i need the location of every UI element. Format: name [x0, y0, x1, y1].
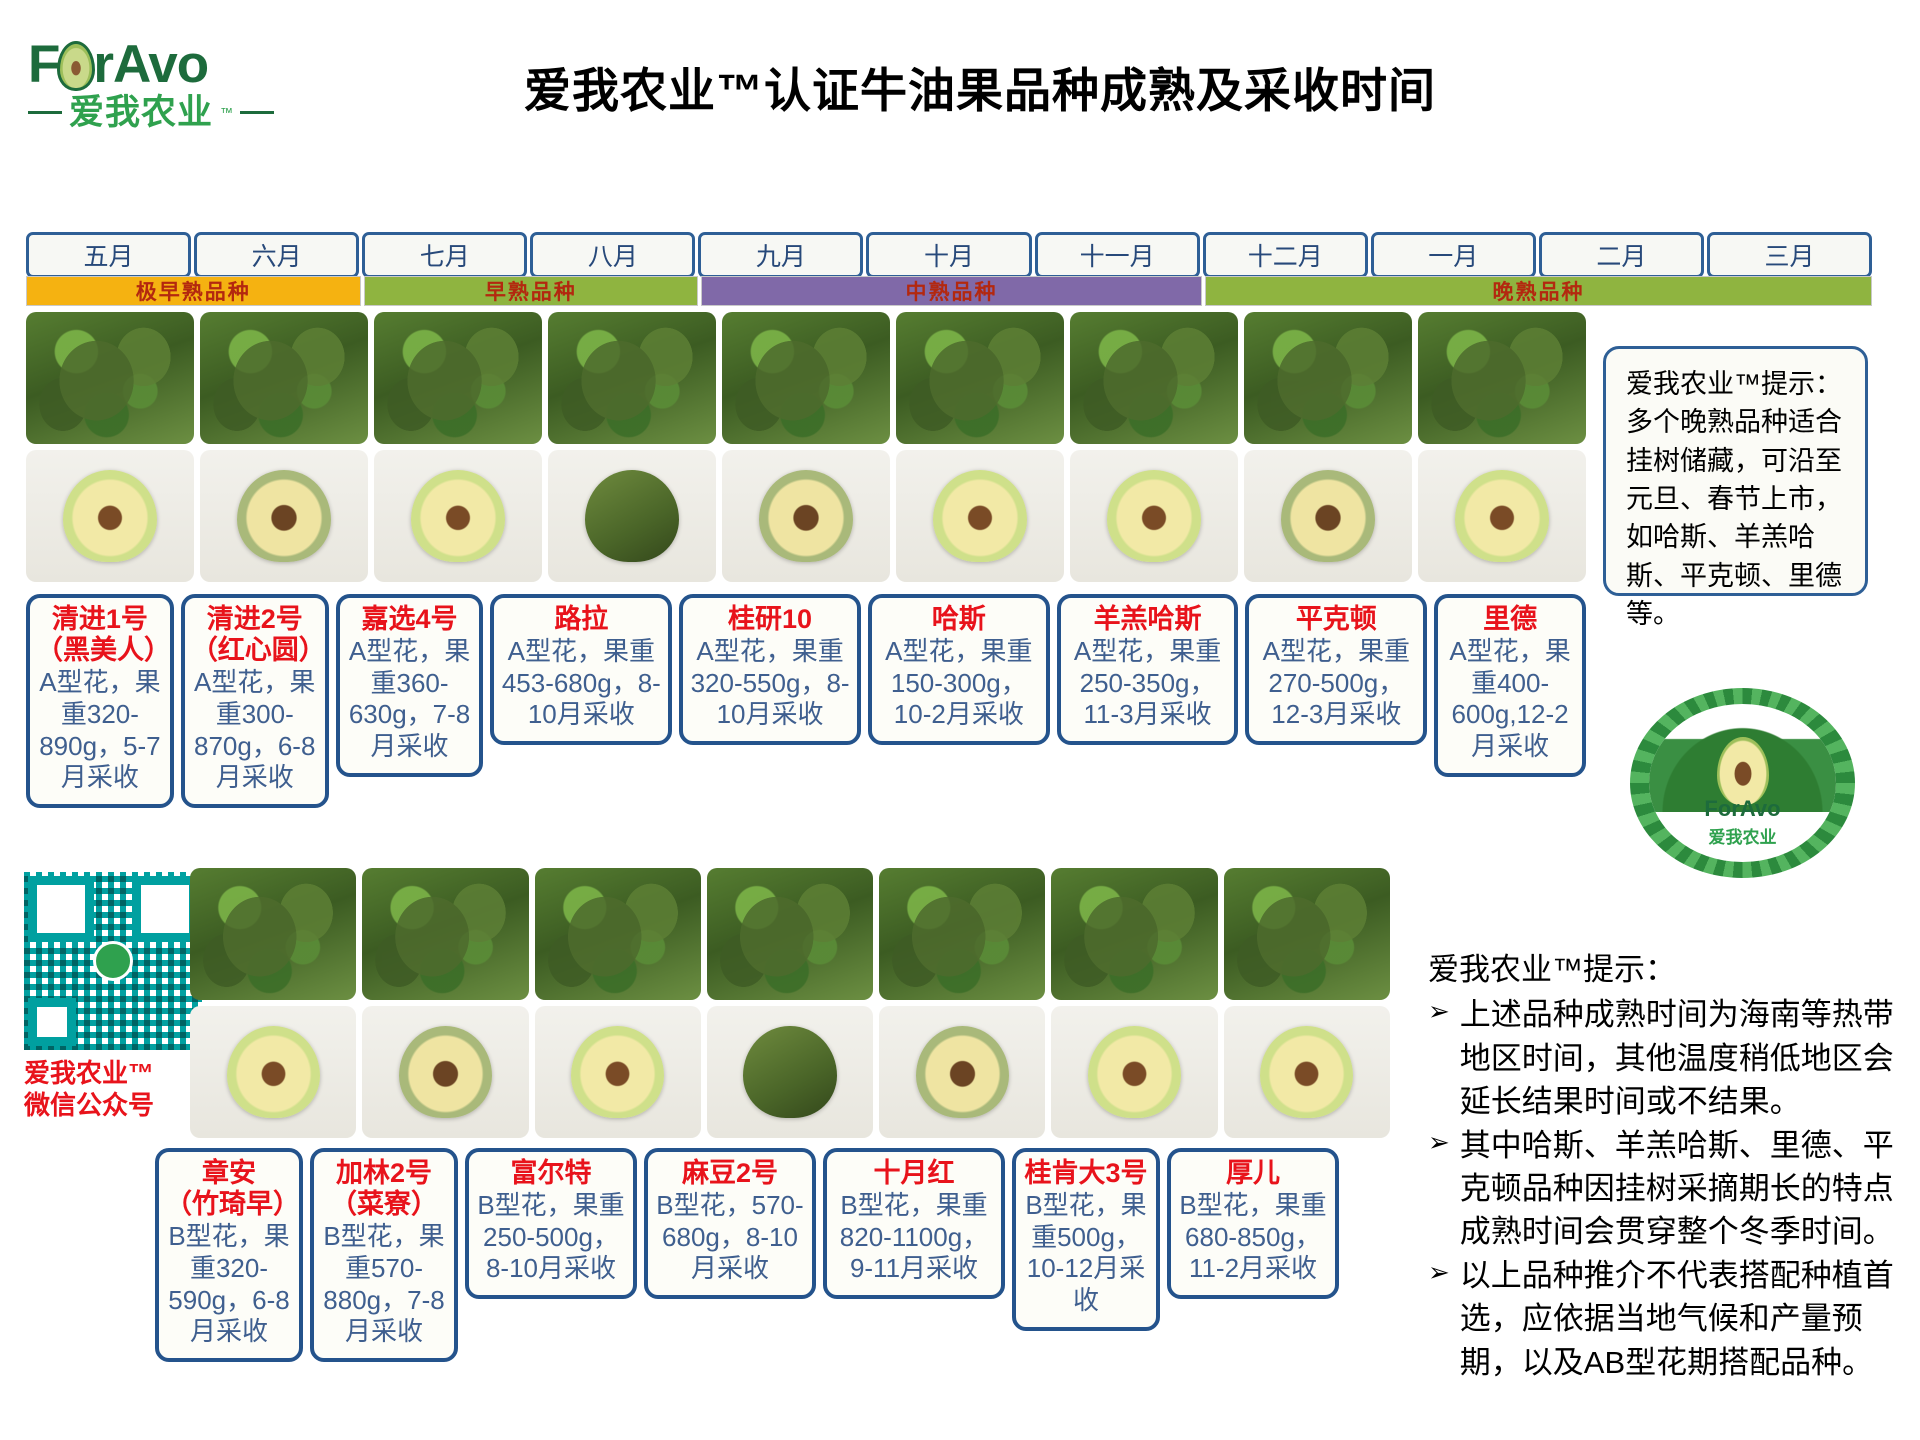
qr-caption: 爱我农业™ 微信公众号: [24, 1058, 204, 1121]
avocado-cut-graphic: [571, 1026, 664, 1118]
tree-photo-12: [535, 868, 701, 1000]
variety-description: A型花，果重150-300g，10-2月采收: [878, 636, 1040, 731]
variety-name: 加林2号: [320, 1158, 448, 1189]
variety-card[interactable]: 十月红B型花，果重820-1100g，9-11月采收: [823, 1148, 1005, 1299]
variety-description: A型花，果重453-680g，8-10月采收: [500, 636, 662, 731]
variety-card[interactable]: 加林2号（菜寮）B型花，果重570-880g，7-8月采收: [310, 1148, 458, 1362]
fruit-photo-16: [1224, 1006, 1390, 1138]
tree-photo-row-1: [26, 312, 1586, 444]
tips-bottom: 爱我农业™提示： ➢上述品种成熟时间为海南等热带地区时间，其他温度稍低地区会延长…: [1428, 948, 1906, 1384]
variety-name: 路拉: [500, 604, 662, 635]
variety-alias: （红心圆）: [191, 635, 319, 666]
poster-root: FrAvo 爱我农业™ 爱我农业™认证牛油果品种成熟及采收时间 五月六月七月八月…: [0, 0, 1920, 1440]
fruit-photo-5: [722, 450, 890, 582]
avocado-cut-graphic: [227, 1026, 320, 1118]
fruit-photo-row-2: [190, 1006, 1390, 1138]
brand-logo: FrAvo 爱我农业™: [28, 38, 298, 148]
variety-card[interactable]: 平克顿A型花，果重270-500g，12-3月采收: [1245, 594, 1427, 745]
season-segment: 极早熟品种: [26, 276, 361, 306]
variety-description: B型花，果重250-500g，8-10月采收: [475, 1190, 627, 1285]
variety-card[interactable]: 清进2号（红心圆）A型花，果重300-870g，6-8月采收: [181, 594, 329, 808]
avocado-cut-graphic: [916, 1026, 1009, 1118]
fruit-photo-7: [1070, 450, 1238, 582]
logo-wordmark: FrAvo: [28, 38, 298, 91]
fruit-photo-11: [362, 1006, 528, 1138]
tree-photo-8: [1244, 312, 1412, 444]
variety-name: 羊羔哈斯: [1067, 604, 1229, 635]
tree-photo-row-2: [190, 868, 1390, 1000]
month-cell: 六月: [194, 232, 359, 278]
avocado-cut-graphic: [585, 470, 679, 562]
variety-description: A型花，果重320-550g，8-10月采收: [689, 636, 851, 731]
tree-photo-3: [374, 312, 542, 444]
seal-wordmark: ForAvo: [1704, 798, 1780, 820]
variety-description: A型花，果重360-630g，7-8月采收: [346, 636, 474, 763]
avocado-cut-graphic: [1260, 1026, 1353, 1118]
variety-card[interactable]: 富尔特B型花，果重250-500g，8-10月采收: [465, 1148, 637, 1299]
tree-photo-1: [26, 312, 194, 444]
variety-name: 富尔特: [475, 1158, 627, 1189]
tree-photo-10: [190, 868, 356, 1000]
avocado-cut-graphic: [399, 1026, 492, 1118]
variety-description: B型花，570-680g，8-10月采收: [654, 1190, 806, 1285]
avocado-cut-graphic: [759, 470, 853, 562]
variety-name: 里德: [1444, 604, 1576, 635]
fruit-photo-2: [200, 450, 368, 582]
month-cell: 一月: [1371, 232, 1536, 278]
variety-card[interactable]: 清进1号（黑美人）A型花，果重320-890g，5-7月采收: [26, 594, 174, 808]
avocado-cut-graphic: [1455, 470, 1549, 562]
variety-card[interactable]: 哈斯A型花，果重150-300g，10-2月采收: [868, 594, 1050, 745]
season-segment: 中熟品种: [701, 276, 1202, 306]
variety-name: 厚儿: [1177, 1158, 1329, 1189]
variety-cards-type-a: 清进1号（黑美人）A型花，果重320-890g，5-7月采收清进2号（红心圆）A…: [26, 594, 1586, 808]
tip-list-item: ➢上述品种成熟时间为海南等热带地区时间，其他温度稍低地区会延长结果时间或不结果。: [1428, 993, 1906, 1123]
variety-description: A型花，果重270-500g，12-3月采收: [1255, 636, 1417, 731]
variety-card[interactable]: 章安（竹琦早）B型花，果重320-590g，6-8月采收: [155, 1148, 303, 1362]
season-segment: 早熟品种: [364, 276, 699, 306]
arrow-bullet-icon: ➢: [1428, 1254, 1450, 1292]
tips-bottom-heading: 爱我农业™提示：: [1428, 948, 1906, 991]
avocado-cut-graphic: [1107, 470, 1201, 562]
avocado-cut-graphic: [63, 470, 157, 562]
qr-caption-line2: 微信公众号: [24, 1090, 204, 1122]
variety-description: B型花，果重680-850g，11-2月采收: [1177, 1190, 1329, 1285]
fruit-photo-14: [879, 1006, 1045, 1138]
tip-list-item: ➢以上品种推介不代表搭配种植首选，应依据当地气候和产量预期，以及AB型花期搭配品…: [1428, 1254, 1906, 1384]
fruit-photo-13: [707, 1006, 873, 1138]
tree-photo-2: [200, 312, 368, 444]
variety-card[interactable]: 厚儿B型花，果重680-850g，11-2月采收: [1167, 1148, 1339, 1299]
tree-photo-13: [707, 868, 873, 1000]
arrow-bullet-icon: ➢: [1428, 993, 1450, 1031]
month-cell: 三月: [1707, 232, 1872, 278]
variety-name: 哈斯: [878, 604, 1040, 635]
variety-name: 嘉选4号: [346, 604, 474, 635]
logo-chinese-name: 爱我农业: [69, 95, 213, 130]
fruit-photo-row-1: [26, 450, 1586, 582]
fruit-photo-15: [1051, 1006, 1217, 1138]
trademark-icon: ™: [220, 105, 233, 120]
seal-outer-ring: ForAvo 爱我农业: [1630, 688, 1855, 878]
tree-photo-16: [1224, 868, 1390, 1000]
variety-name: 十月红: [833, 1158, 995, 1189]
variety-name: 桂研10: [689, 604, 851, 635]
avocado-cut-graphic: [933, 470, 1027, 562]
variety-description: A型花，果重400-600g,12-2月采收: [1444, 636, 1576, 763]
fruit-photo-12: [535, 1006, 701, 1138]
tree-photo-5: [722, 312, 890, 444]
fruit-photo-4: [548, 450, 716, 582]
tree-photo-9: [1418, 312, 1586, 444]
variety-name: 清进2号: [191, 604, 319, 635]
variety-description: B型花，果重570-880g，7-8月采收: [320, 1221, 448, 1348]
month-cell: 七月: [362, 232, 527, 278]
variety-alias: （竹琦早）: [165, 1189, 293, 1220]
variety-name: 清进1号: [36, 604, 164, 635]
avocado-cut-graphic: [1088, 1026, 1181, 1118]
divider-right: [240, 111, 274, 114]
tree-photo-4: [548, 312, 716, 444]
tip-text: 其中哈斯、羊羔哈斯、里德、平克顿品种因挂树采摘期长的特点成熟时间会贯穿整个冬季时…: [1460, 1124, 1906, 1254]
variety-description: A型花，果重250-350g，11-3月采收: [1067, 636, 1229, 731]
tree-photo-11: [362, 868, 528, 1000]
qr-code-image[interactable]: [24, 872, 202, 1050]
month-cell: 九月: [698, 232, 863, 278]
logo-subline: 爱我农业™: [28, 95, 298, 130]
tips-bottom-list: ➢上述品种成熟时间为海南等热带地区时间，其他温度稍低地区会延长结果时间或不结果。…: [1428, 993, 1906, 1384]
qr-logo-icon: [93, 941, 133, 981]
arrow-bullet-icon: ➢: [1428, 1124, 1450, 1162]
variety-name: 平克顿: [1255, 604, 1417, 635]
season-bar: 极早熟品种早熟品种中熟品种晚熟品种: [26, 276, 1872, 306]
variety-card[interactable]: 嘉选4号A型花，果重360-630g，7-8月采收: [336, 594, 484, 777]
variety-alias: （菜寮）: [320, 1189, 448, 1220]
fruit-photo-1: [26, 450, 194, 582]
variety-alias: （黑美人）: [36, 635, 164, 666]
month-cell: 十一月: [1035, 232, 1200, 278]
fruit-photo-6: [896, 450, 1064, 582]
variety-description: A型花，果重320-890g，5-7月采收: [36, 667, 164, 794]
month-cell: 十月: [866, 232, 1031, 278]
variety-cards-type-b: 章安（竹琦早）B型花，果重320-590g，6-8月采收加林2号（菜寮）B型花，…: [155, 1148, 1395, 1362]
avocado-cut-graphic: [1281, 470, 1375, 562]
variety-card[interactable]: 里德A型花，果重400-600g,12-2月采收: [1434, 594, 1586, 777]
variety-description: B型花，果重500g，10-12月采收: [1022, 1190, 1150, 1317]
season-segment: 晚熟品种: [1205, 276, 1872, 306]
month-cell: 十二月: [1203, 232, 1368, 278]
variety-card[interactable]: 桂研10A型花，果重320-550g，8-10月采收: [679, 594, 861, 745]
avocado-cut-graphic: [237, 470, 331, 562]
tip-list-item: ➢其中哈斯、羊羔哈斯、里德、平克顿品种因挂树采摘期长的特点成熟时间会贯穿整个冬季…: [1428, 1124, 1906, 1254]
seal-chinese-name: 爱我农业: [1709, 823, 1777, 848]
variety-description: B型花，果重320-590g，6-8月采收: [165, 1221, 293, 1348]
month-strip: 五月六月七月八月九月十月十一月十二月一月二月三月: [26, 232, 1872, 278]
qr-finder-icon: [28, 998, 76, 1046]
tip-box-late-varieties: 爱我农业™提示：多个晚熟品种适合挂树储藏，可沿至元旦、春节上市，如哈斯、羊羔哈斯…: [1603, 346, 1868, 596]
fruit-photo-3: [374, 450, 542, 582]
avocado-cut-graphic: [743, 1026, 836, 1118]
qr-caption-line1: 爱我农业™: [24, 1058, 204, 1090]
tip-text: 上述品种成熟时间为海南等热带地区时间，其他温度稍低地区会延长结果时间或不结果。: [1460, 993, 1906, 1123]
variety-card[interactable]: 路拉A型花，果重453-680g，8-10月采收: [490, 594, 672, 745]
seal-inner: ForAvo 爱我农业: [1649, 704, 1836, 862]
variety-description: A型花，果重300-870g，6-8月采收: [191, 667, 319, 794]
tree-photo-14: [879, 868, 1045, 1000]
fruit-photo-8: [1244, 450, 1412, 582]
month-cell: 八月: [530, 232, 695, 278]
avocado-cut-graphic: [411, 470, 505, 562]
variety-description: B型花，果重820-1100g，9-11月采收: [833, 1190, 995, 1285]
wechat-qr-block[interactable]: 爱我农业™ 微信公众号: [24, 872, 204, 1121]
divider-left: [28, 111, 62, 114]
certification-seal: ForAvo 爱我农业: [1630, 688, 1855, 878]
variety-card[interactable]: 麻豆2号B型花，570-680g，8-10月采收: [644, 1148, 816, 1299]
page-title: 爱我农业™认证牛油果品种成熟及采收时间: [420, 52, 1540, 121]
variety-card[interactable]: 桂肯大3号B型花，果重500g，10-12月采收: [1012, 1148, 1160, 1331]
month-cell: 二月: [1539, 232, 1704, 278]
avocado-icon: [57, 41, 95, 91]
fruit-photo-9: [1418, 450, 1586, 582]
month-cell: 五月: [26, 232, 191, 278]
tip-text: 以上品种推介不代表搭配种植首选，应依据当地气候和产量预期，以及AB型花期搭配品种…: [1460, 1254, 1906, 1384]
tree-photo-15: [1051, 868, 1217, 1000]
variety-card[interactable]: 羊羔哈斯A型花，果重250-350g，11-3月采收: [1057, 594, 1239, 745]
variety-name: 章安: [165, 1158, 293, 1189]
fruit-photo-10: [190, 1006, 356, 1138]
tree-photo-6: [896, 312, 1064, 444]
tree-photo-7: [1070, 312, 1238, 444]
variety-name: 桂肯大3号: [1022, 1158, 1150, 1189]
variety-name: 麻豆2号: [654, 1158, 806, 1189]
